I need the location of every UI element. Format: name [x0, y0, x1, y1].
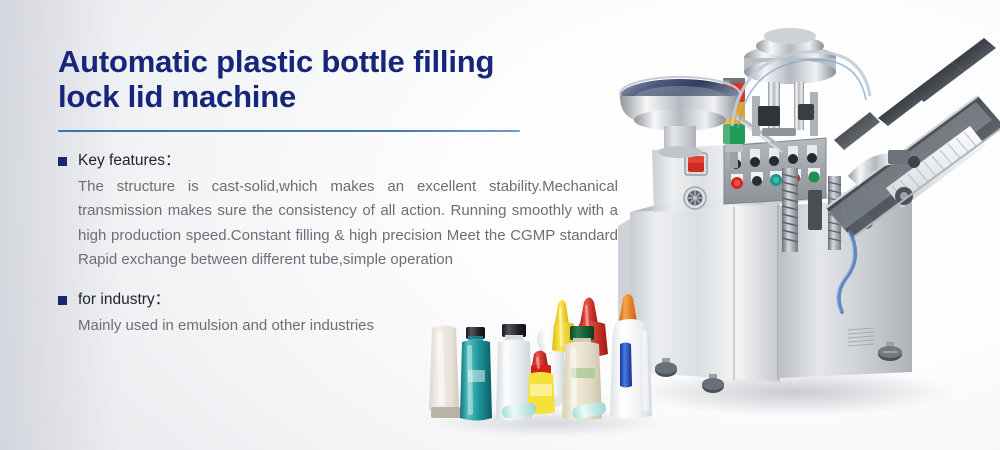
for-industry-heading-row: for industry：: [58, 290, 620, 310]
banner-text-column: Automatic plastic bottle filling lock li…: [58, 44, 620, 338]
bottle-teal-cosmetic: [460, 327, 492, 421]
title-divider: [58, 130, 520, 132]
filling-turret: [732, 28, 870, 136]
square-bullet-icon: [58, 296, 67, 305]
for-industry-body: Mainly used in emulsion and other indust…: [78, 314, 618, 338]
section-key-features: Key features： The structure is cast-soli…: [58, 151, 620, 273]
square-bullet-icon: [58, 157, 67, 166]
title-line-1: Automatic plastic bottle filling: [58, 44, 494, 79]
title-line-2: lock lid machine: [58, 79, 620, 114]
page-title: Automatic plastic bottle filling lock li…: [58, 44, 620, 114]
inclined-tube-magazine: [826, 38, 1000, 238]
bottle-cream-tube: [429, 326, 461, 419]
fan-vent: [684, 187, 706, 209]
key-features-heading: Key features：: [78, 151, 181, 171]
for-industry-heading: for industry：: [78, 290, 170, 310]
key-features-heading-row: Key features：: [58, 151, 620, 171]
section-for-industry: for industry： Mainly used in emulsion an…: [58, 290, 620, 338]
product-banner: Automatic plastic bottle filling lock li…: [0, 0, 1000, 450]
key-features-body: The structure is cast-solid,which makes …: [78, 175, 618, 273]
